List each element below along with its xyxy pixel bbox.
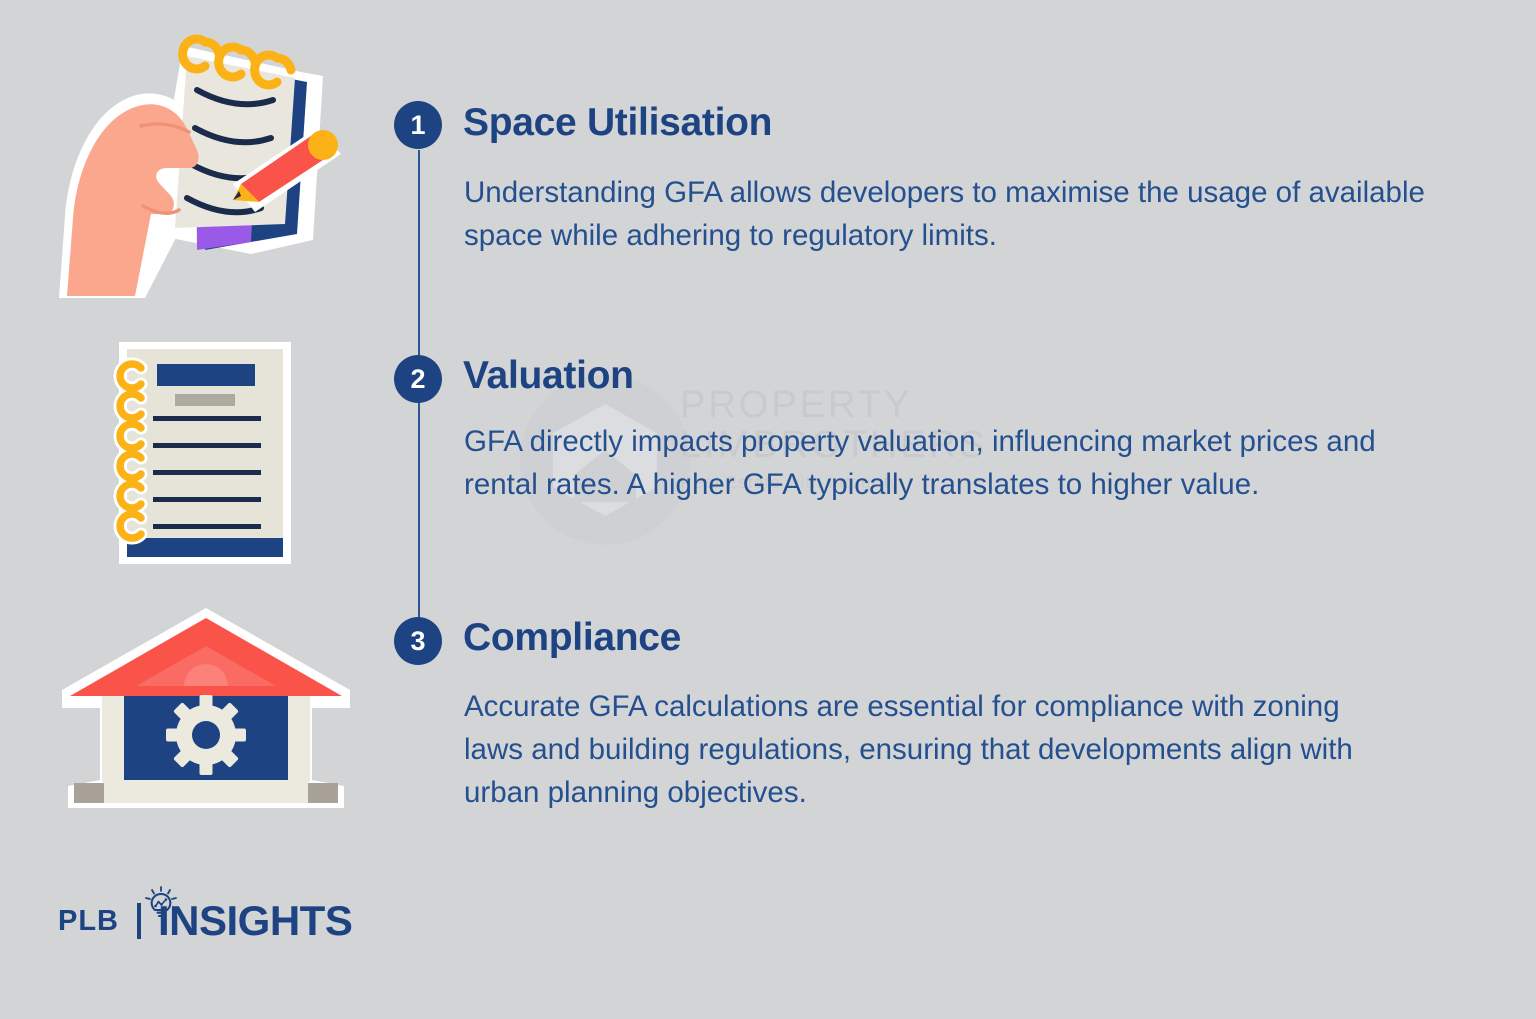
item-title-space-utilisation: Space Utilisation bbox=[463, 103, 772, 142]
item-title-valuation: Valuation bbox=[463, 356, 634, 395]
item-title-compliance: Compliance bbox=[463, 618, 681, 657]
watermark-line1: PROPERTY bbox=[680, 385, 1000, 425]
item-body-space-utilisation: Understanding GFA allows developers to m… bbox=[464, 172, 1464, 258]
logo-divider bbox=[137, 903, 141, 939]
government-building-gear-icon bbox=[62, 608, 350, 813]
step-number-badge-1: 1 bbox=[394, 101, 442, 149]
spiral-notepad-document-icon bbox=[105, 338, 305, 568]
item-body-valuation: GFA directly impacts property valuation,… bbox=[464, 421, 1434, 507]
logo-product-text: INSIGHTS bbox=[158, 900, 352, 942]
hand-writing-notepad-icon bbox=[55, 28, 365, 300]
infographic-canvas: PROPERTY LIMBROTHERS Real Estate with In… bbox=[0, 0, 1536, 1019]
logo-brand-text: PLB bbox=[58, 907, 119, 936]
plb-insights-logo: PLB INSIGHTS bbox=[58, 898, 352, 944]
item-body-compliance: Accurate GFA calculations are essential … bbox=[464, 686, 1374, 814]
lightbulb-chart-icon bbox=[144, 886, 178, 920]
step-number-badge-2: 2 bbox=[394, 355, 442, 403]
step-number-badge-3: 3 bbox=[394, 617, 442, 665]
